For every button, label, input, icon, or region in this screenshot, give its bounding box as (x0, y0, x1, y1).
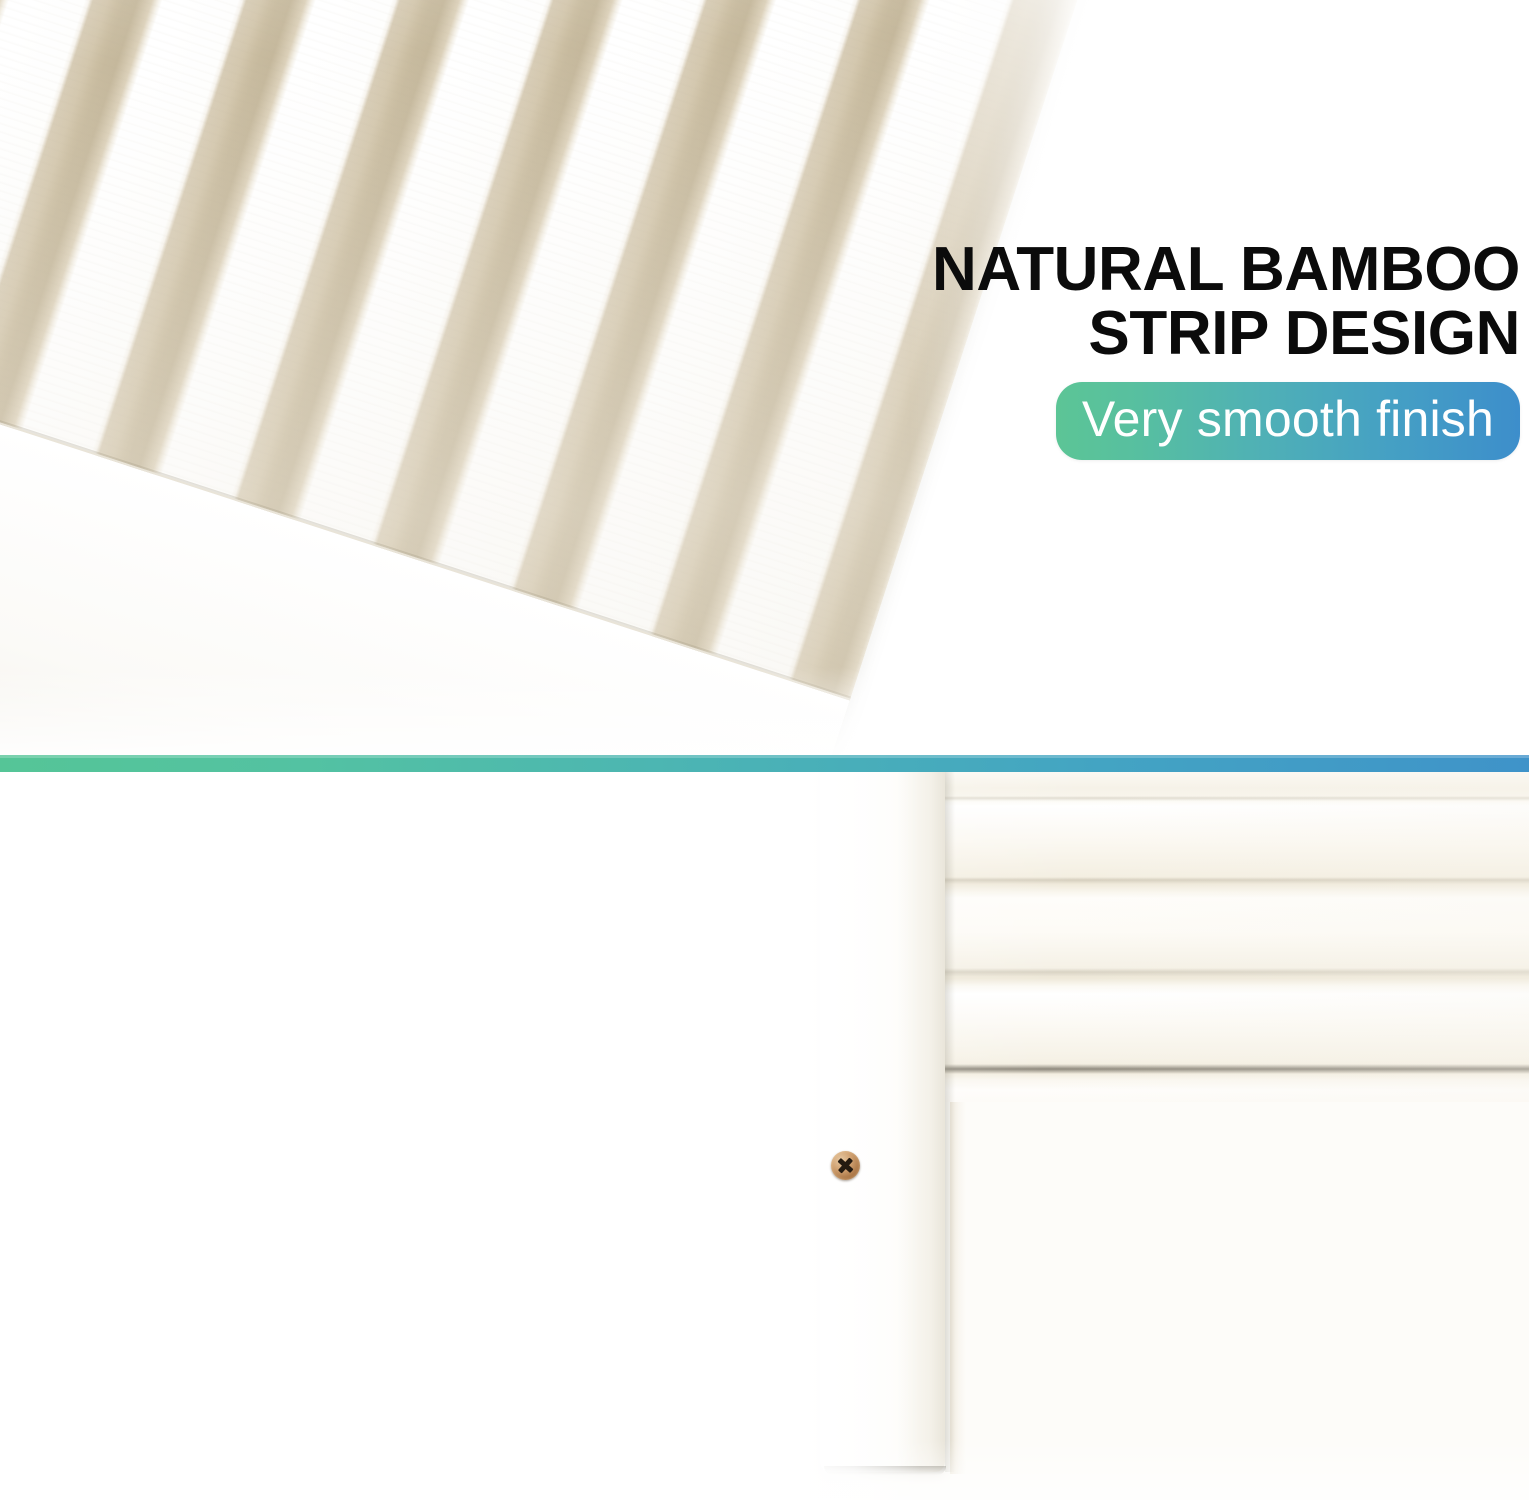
top-headline: NATURAL BAMBOO STRIP DESIGN (860, 238, 1520, 366)
shelf-leg-foot-shadow (824, 1466, 946, 1475)
top-feature-badge: Very smooth finish (1056, 382, 1520, 460)
panel-bottom: FEET RAISED TO PREVENT MOISTURE Preventi… (0, 772, 1529, 1500)
top-copy-block: NATURAL BAMBOO STRIP DESIGN Very smooth … (860, 238, 1520, 460)
shelf-raised-leg (820, 772, 945, 1472)
divider-highlight (0, 755, 1529, 758)
panel-top: NATURAL BAMBOO STRIP DESIGN Very smooth … (0, 0, 1529, 757)
gradient-divider-bar (0, 755, 1529, 772)
raised-leg-shelf-photo (800, 772, 1529, 1500)
shelf-leg-shadow (945, 772, 955, 1472)
product-feature-infographic: NATURAL BAMBOO STRIP DESIGN Very smooth … (0, 0, 1529, 1500)
brass-phillips-screw-icon (831, 1151, 860, 1180)
